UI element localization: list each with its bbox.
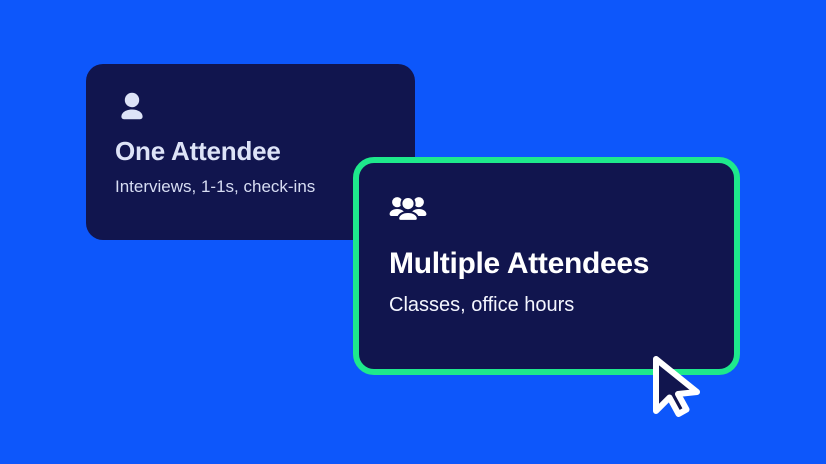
card-title: Multiple Attendees: [389, 247, 734, 282]
attendee-type-selector: One Attendee Interviews, 1-1s, check-ins…: [0, 0, 826, 464]
attendee-option-card-multiple-attendees[interactable]: Multiple Attendees Classes, office hours: [353, 157, 740, 375]
single-person-icon: [115, 90, 149, 124]
group-people-icon: [389, 191, 427, 229]
card-subtitle: Classes, office hours: [389, 293, 734, 318]
